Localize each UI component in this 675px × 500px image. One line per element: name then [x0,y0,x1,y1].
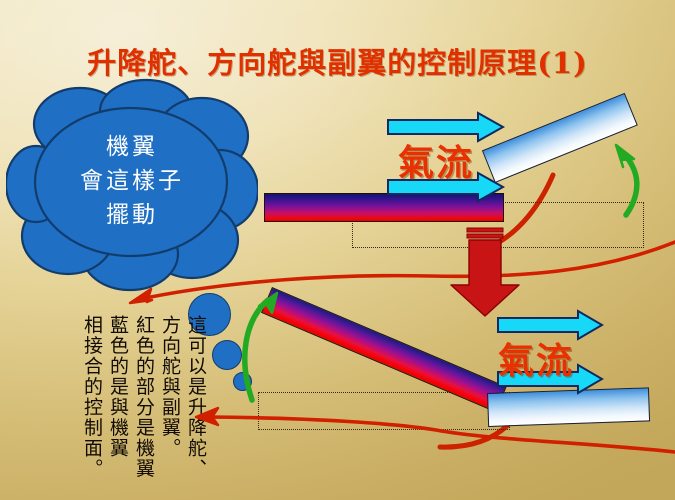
caption-column-2: 方向舵與副翼。 [158,315,182,459]
cloud-tail-bubble-medium [212,340,242,370]
upper-rotation-arrowhead [616,145,634,167]
caption-column-1: 這可以是升降舵、 [184,315,208,479]
upper-control-surface [482,93,638,183]
caption-column-3: 紅色的部分是機翼 [132,315,156,479]
page-title: 升降舵、方向舵與副翼的控制原理(1) [0,40,675,82]
lower-airflow-label: 氣流 [498,332,574,384]
upper-wing [264,193,504,222]
lower-control-surface [487,387,650,427]
cloud-tail-bubble-small [233,372,252,391]
slide-canvas: 升降舵、方向舵與副翼的控制原理(1) 機翼 [0,0,675,500]
caption-block: 這可以是升降舵、 方向舵與副翼。 紅色的部分是機翼 藍色的是與機翼 相接合的控制… [28,315,208,500]
upper-airflow-label: 氣流 [398,134,474,186]
caption-column-4: 藍色的是與機翼 [106,315,130,459]
thought-cloud: 機翼 會這樣子 擺動 [6,78,258,293]
caption-column-5: 相接合的控制面。 [80,315,104,479]
cloud-shape-icon [6,78,258,293]
